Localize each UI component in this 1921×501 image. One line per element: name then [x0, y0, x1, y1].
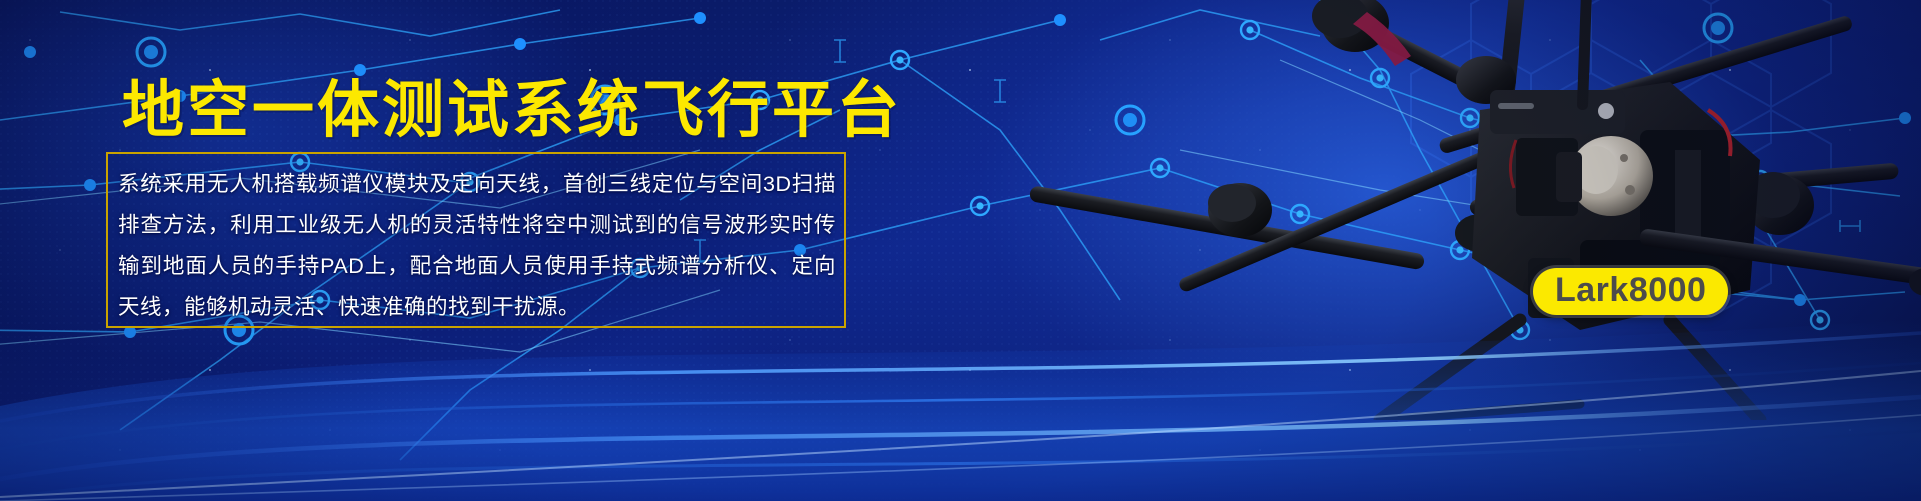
- page-title: 地空一体测试系统飞行平台: [122, 80, 902, 142]
- description-text: 系统采用无人机搭载频谱仪模块及定向天线，首创三线定位与空间3D扫描排查方法，利用…: [108, 154, 844, 328]
- model-badge: Lark8000: [1533, 268, 1728, 315]
- hexagon-pattern-icon: [1221, 0, 1921, 380]
- description-box: 系统采用无人机搭载频谱仪模块及定向天线，首创三线定位与空间3D扫描排查方法，利用…: [106, 152, 846, 328]
- drone-photo: [880, 0, 1921, 420]
- light-wave-icon: [0, 311, 1921, 501]
- product-banner: 地空一体测试系统飞行平台 系统采用无人机搭载频谱仪模块及定向天线，首创三线定位与…: [0, 0, 1921, 501]
